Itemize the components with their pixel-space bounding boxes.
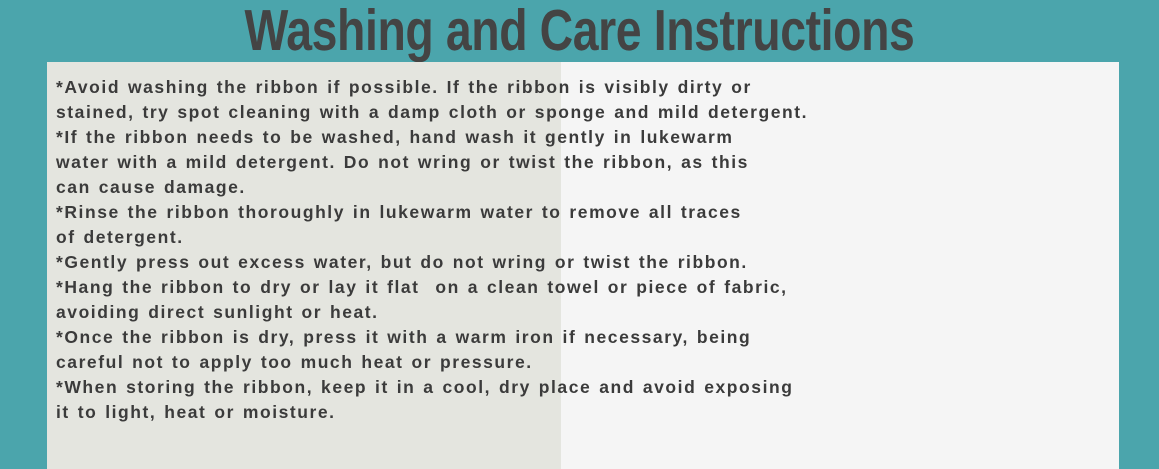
instruction-item: *If the ribbon needs to be washed, hand … bbox=[56, 125, 1113, 200]
instructions-list: *Avoid washing the ribbon if possible. I… bbox=[56, 75, 1113, 425]
instruction-item: *Once the ribbon is dry, press it with a… bbox=[56, 325, 1113, 375]
instruction-item: *Gently press out excess water, but do n… bbox=[56, 250, 1113, 275]
instructions-panel: *Avoid washing the ribbon if possible. I… bbox=[47, 62, 1119, 469]
instruction-item: *When storing the ribbon, keep it in a c… bbox=[56, 375, 1113, 425]
instruction-item: *Hang the ribbon to dry or lay it flat o… bbox=[56, 275, 1113, 325]
page-title: Washing and Care Instructions bbox=[116, 0, 1043, 62]
instruction-item: *Rinse the ribbon thoroughly in lukewarm… bbox=[56, 200, 1113, 250]
instruction-item: *Avoid washing the ribbon if possible. I… bbox=[56, 75, 1113, 125]
care-instructions-poster: Washing and Care Instructions *Avoid was… bbox=[0, 0, 1159, 469]
